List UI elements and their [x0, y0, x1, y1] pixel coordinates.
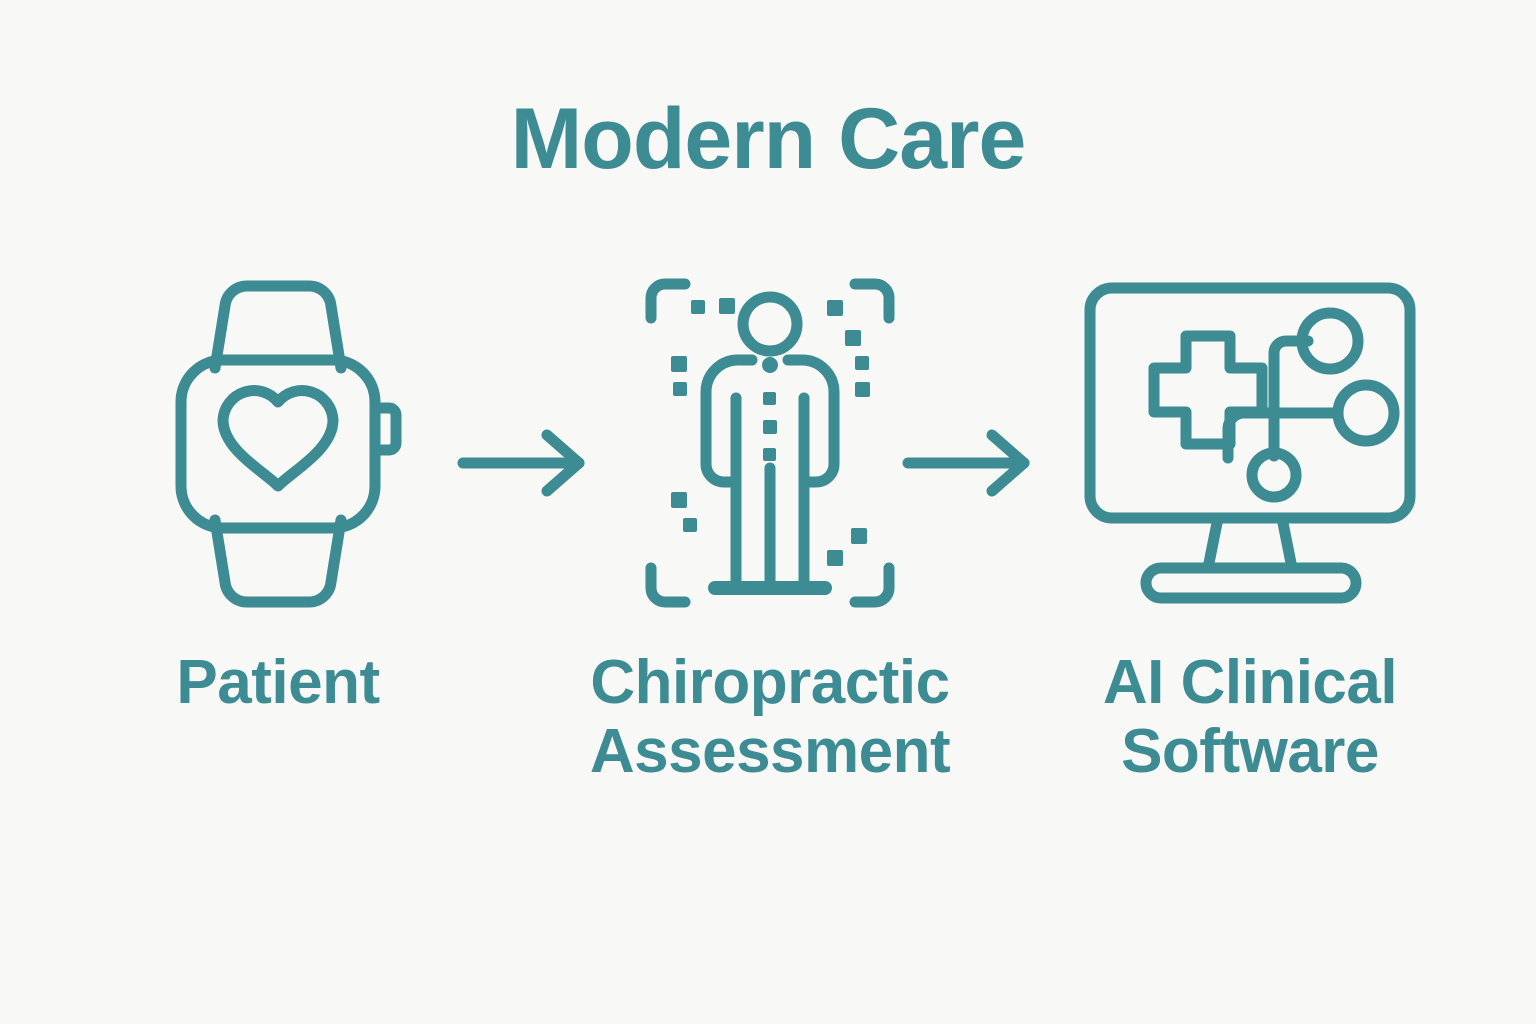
diagram-canvas: Modern Care Patient: [0, 0, 1536, 1024]
page-title: Modern Care: [0, 96, 1536, 182]
flow-step-ai-clinical-software[interactable]: AI Clinical Software: [1070, 268, 1430, 787]
flow-step-label: AI Clinical Software: [1103, 648, 1397, 787]
monitor-medical-ai-icon: [1078, 268, 1423, 618]
flow-step-chiropractic-assessment[interactable]: Chiropractic Assessment: [590, 268, 950, 787]
smartwatch-heart-icon: [153, 268, 403, 618]
body-scan-icon: [635, 268, 905, 618]
arrow-right-icon: [455, 423, 595, 503]
process-flow: Patient: [0, 268, 1536, 868]
flow-step-label: Chiropractic Assessment: [590, 648, 950, 787]
flow-step-patient[interactable]: Patient: [98, 268, 458, 717]
arrow-right-icon: [900, 423, 1040, 503]
flow-step-label: Patient: [176, 648, 379, 717]
